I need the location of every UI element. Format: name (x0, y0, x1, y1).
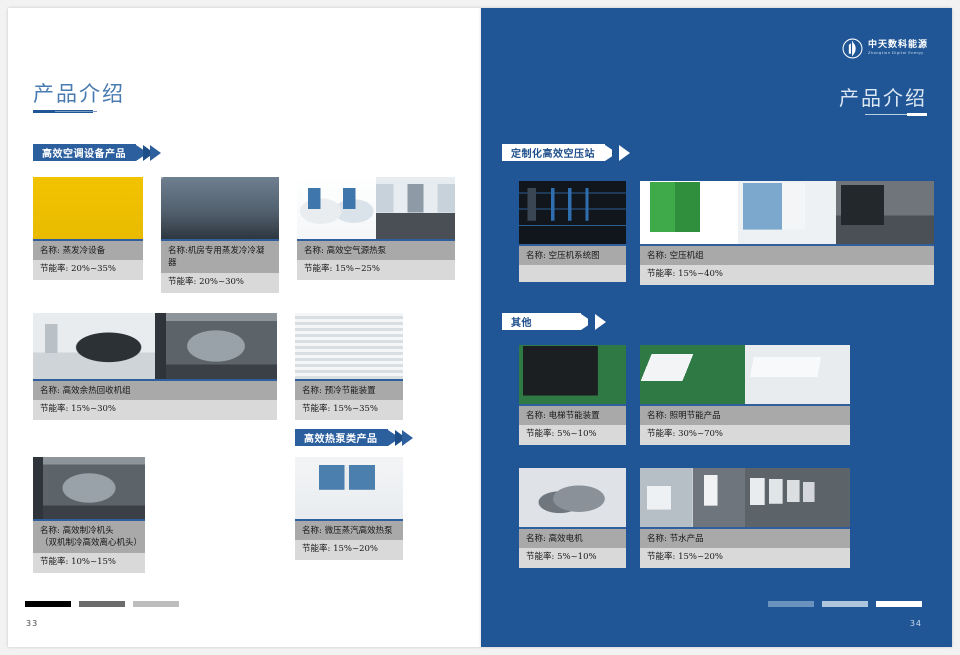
product-name-subtext: （双机制冷高效离心机头） (40, 537, 138, 549)
product-photos (519, 181, 626, 244)
product-rate: 节能率: 15%~35% (295, 400, 403, 420)
product-photo (33, 313, 155, 379)
product-photos (33, 177, 143, 239)
product-name-text: 名称: 预冷节能装置 (302, 386, 376, 396)
product-rate: 节能率: 15%~30% (33, 400, 277, 420)
product-photo (640, 181, 738, 244)
product-name-text: 名称:机房专用蒸发冷冷凝器 (168, 246, 264, 268)
product-name: 名称: 照明节能产品 (640, 404, 850, 425)
product-card[interactable]: 名称: 高效电机 节能率: 5%~10% (519, 468, 626, 568)
left-page: 产品介绍 高效空调设备产品 名称: 蒸发冷设备 节能率: 20%~35% 名称:… (8, 8, 481, 647)
product-name-text: 名称: 电梯节能装置 (526, 411, 600, 421)
banner-chevron-icon-2 (595, 314, 606, 330)
company-logo-name-cn: 中天数科能源 (868, 41, 928, 50)
product-card[interactable]: 名称:机房专用蒸发冷冷凝器 节能率: 20%~30% (161, 177, 279, 293)
product-rate: 节能率: 15%~20% (640, 548, 850, 568)
footer-bar-3 (876, 601, 922, 607)
product-photo (640, 468, 693, 527)
product-card[interactable]: 名称: 高效空气源热泵 节能率: 15%~25% (297, 177, 455, 280)
footer-bar-2 (79, 601, 125, 607)
product-name: 名称: 高效余热回收机组 (33, 379, 277, 400)
left-page-title: 产品介绍 (33, 78, 125, 108)
product-photo (33, 457, 145, 519)
product-name-text: 名称: 蒸发冷设备 (40, 246, 105, 256)
right-page: 中天数科能源 Zhongtian Digital Energy 产品介绍 定制化… (481, 8, 952, 647)
product-photo (295, 313, 403, 379)
product-photo (297, 177, 376, 239)
product-name-text: 名称: 空压机系统图 (526, 251, 600, 261)
left-title-underline (33, 110, 93, 113)
product-name: 名称: 高效电机 (519, 527, 626, 548)
product-card[interactable]: 名称: 高效余热回收机组 节能率: 15%~30% (33, 313, 277, 420)
product-photo (519, 345, 626, 404)
product-name-text: 名称: 空压机组 (647, 251, 704, 261)
product-name: 名称: 空压机系统图 (519, 244, 626, 265)
section-banner-other-label: 其他 (502, 313, 581, 330)
product-photo (693, 468, 746, 527)
right-page-number: 34 (910, 619, 922, 628)
section-banner-air-compressor-label: 定制化高效空压站 (502, 144, 605, 161)
product-photo (519, 181, 626, 244)
product-name-text: 名称: 高效余热回收机组 (40, 386, 131, 396)
company-logo-name-en: Zhongtian Digital Energy (868, 52, 928, 56)
product-rate: 节能率: 15%~40% (640, 265, 934, 285)
left-page-number: 33 (26, 619, 38, 628)
product-name: 名称: 空压机组 (640, 244, 934, 265)
product-rate: 节能率: 5%~10% (519, 548, 626, 568)
product-photo (745, 468, 850, 527)
product-photo (295, 457, 403, 519)
product-photo (155, 313, 277, 379)
section-banner-heatpump-label: 高效热泵类产品 (295, 429, 388, 446)
product-card[interactable]: 名称: 预冷节能装置 节能率: 15%~35% (295, 313, 403, 420)
product-photo (33, 177, 143, 239)
product-photos (295, 313, 403, 379)
section-banner-other: 其他 (502, 313, 606, 330)
footer-bar-1 (25, 601, 71, 607)
product-card[interactable]: 名称: 空压机系统图 (519, 181, 626, 282)
banner-chevron-icon-2 (150, 145, 161, 161)
product-name: 名称: 高效制冷机头 （双机制冷高效离心机头） (33, 519, 145, 553)
product-photos (519, 468, 626, 527)
product-name-text: 名称: 高效制冷机头 (40, 526, 114, 536)
product-rate: 节能率: 5%~10% (519, 425, 626, 445)
company-logo-mark-icon (842, 38, 863, 59)
product-name-text: 名称: 高效空气源热泵 (304, 246, 386, 256)
banner-chevron-icon-2 (619, 145, 630, 161)
company-logo: 中天数科能源 Zhongtian Digital Energy (842, 38, 928, 59)
product-name: 名称: 蒸发冷设备 (33, 239, 143, 260)
product-rate: 节能率: 20%~30% (161, 273, 279, 293)
product-photo (640, 345, 745, 404)
product-photos (640, 345, 850, 404)
product-card[interactable]: 名称: 空压机组 节能率: 15%~40% (640, 181, 934, 285)
product-name-text: 名称: 节水产品 (647, 534, 704, 544)
product-name: 名称: 微压蒸汽高效热泵 (295, 519, 403, 540)
brochure-spread: 产品介绍 高效空调设备产品 名称: 蒸发冷设备 节能率: 20%~35% 名称:… (0, 0, 960, 655)
product-photos (519, 345, 626, 404)
product-card[interactable]: 名称: 高效制冷机头 （双机制冷高效离心机头） 节能率: 10%~15% (33, 457, 145, 573)
banner-chevron-icon-2 (402, 430, 413, 446)
product-card[interactable]: 名称: 蒸发冷设备 节能率: 20%~35% (33, 177, 143, 280)
product-rate (519, 265, 626, 282)
right-page-title: 产品介绍 (839, 82, 927, 111)
product-photo (745, 345, 850, 404)
product-photos (161, 177, 279, 239)
product-name: 名称: 电梯节能装置 (519, 404, 626, 425)
right-footer-bars (768, 601, 922, 607)
product-card[interactable]: 名称: 节水产品 节能率: 15%~20% (640, 468, 850, 568)
product-rate: 节能率: 10%~15% (33, 553, 145, 573)
left-footer-bars (25, 601, 179, 607)
product-rate: 节能率: 20%~35% (33, 260, 143, 280)
right-title-underline (865, 114, 927, 115)
section-banner-air-compressor: 定制化高效空压站 (502, 144, 630, 161)
product-photo (161, 177, 279, 239)
product-rate: 节能率: 30%~70% (640, 425, 850, 445)
product-name: 名称:机房专用蒸发冷冷凝器 (161, 239, 279, 273)
product-name: 名称: 节水产品 (640, 527, 850, 548)
section-banner-hvac: 高效空调设备产品 (33, 144, 161, 161)
product-photos (295, 457, 403, 519)
product-photo (519, 468, 626, 527)
product-card[interactable]: 名称: 电梯节能装置 节能率: 5%~10% (519, 345, 626, 445)
product-name-text: 名称: 照明节能产品 (647, 411, 721, 421)
product-name: 名称: 高效空气源热泵 (297, 239, 455, 260)
section-banner-hvac-label: 高效空调设备产品 (33, 144, 136, 161)
footer-bar-2 (822, 601, 868, 607)
product-photos (33, 313, 277, 379)
section-banner-heatpump: 高效热泵类产品 (295, 429, 413, 446)
footer-bar-3 (133, 601, 179, 607)
product-rate: 节能率: 15%~20% (295, 540, 403, 560)
footer-bar-1 (768, 601, 814, 607)
product-photos (640, 181, 934, 244)
product-photos (33, 457, 145, 519)
product-name: 名称: 预冷节能装置 (295, 379, 403, 400)
product-name-text: 名称: 高效电机 (526, 534, 583, 544)
product-photo (836, 181, 934, 244)
product-photos (640, 468, 850, 527)
product-rate: 节能率: 15%~25% (297, 260, 455, 280)
product-photo (376, 177, 455, 239)
product-photo (738, 181, 836, 244)
product-card[interactable]: 名称: 照明节能产品 节能率: 30%~70% (640, 345, 850, 445)
product-card[interactable]: 名称: 微压蒸汽高效热泵 节能率: 15%~20% (295, 457, 403, 560)
product-photos (297, 177, 455, 239)
product-name-text: 名称: 微压蒸汽高效热泵 (302, 526, 393, 536)
